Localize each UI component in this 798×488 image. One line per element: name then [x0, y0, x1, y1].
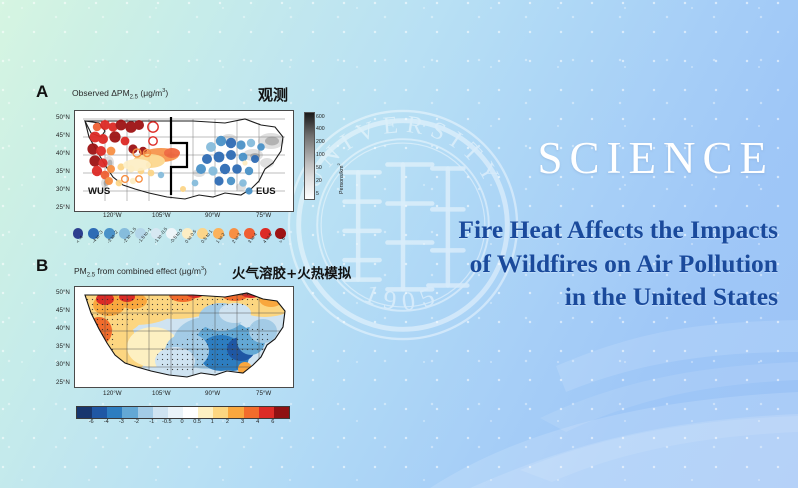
colorbar-b-segment-11 — [244, 407, 259, 418]
panel-a-title-delta: ΔPM — [111, 88, 129, 98]
pop-tick-400: 400 — [316, 126, 325, 132]
colorbar-b-segment-3 — [122, 407, 137, 418]
headline-line-1: Fire Heat Affects the Impacts — [358, 213, 778, 247]
panel-b-title-pm: PM — [74, 266, 87, 276]
panel-b-title-sub: 2.5 — [87, 273, 95, 279]
colorbar-b-segment-1 — [92, 407, 107, 418]
panel-b-ytick-2: 40°N — [56, 325, 70, 332]
panel-a-letter: A — [36, 82, 48, 102]
panel-b-xtick-0: 120°W — [103, 390, 122, 397]
population-axis-label-sup: 2 — [336, 163, 341, 165]
colorbar-b-segment-12 — [259, 407, 274, 418]
population-colorbar — [304, 112, 315, 200]
colorbar-b-segment-5 — [153, 407, 168, 418]
poster-headline: Fire Heat Affects the Impacts of Wildfir… — [358, 213, 778, 314]
colorbar-b-segment-4 — [138, 407, 153, 418]
panel-b-ytick-5: 25°N — [56, 379, 70, 386]
panel-a-ytick-2: 40°N — [56, 150, 70, 157]
colorbar-b-segment-13 — [274, 407, 289, 418]
pop-tick-100: 100 — [316, 152, 325, 158]
panel-a-title: Observed ΔPM2.5 (μg/m3) — [72, 88, 168, 101]
panel-b-title-rest: from combined effect (μg/m — [95, 266, 201, 276]
panel-a-cn-tag: 观测 — [258, 84, 288, 105]
seal-outer-text: UNIVERSITY — [298, 111, 508, 193]
panel-a-ytick-3: 35°N — [56, 168, 70, 175]
panel-a-region-wus: WUS — [88, 186, 110, 197]
panel-a-ytick-5: 25°N — [56, 204, 70, 211]
panel-a-ytick-1: 45°N — [56, 132, 70, 139]
panel-a-xtick-2: 90°W — [205, 212, 220, 219]
panel-a-region-eus: EUS — [256, 186, 276, 197]
panel-b-title: PM2.5 from combined effect (μg/m3) — [74, 266, 207, 279]
panel-a-xtick-0: 120°W — [103, 212, 122, 219]
colorbar-b-segment-2 — [107, 407, 122, 418]
panel-b-ytick-1: 45°N — [56, 307, 70, 314]
panel-b-map — [74, 286, 294, 388]
colorbar-b-segment-7 — [183, 407, 198, 418]
panel-a-xtick-1: 105°W — [152, 212, 171, 219]
colorbar-b-tick-12: 6 — [259, 419, 287, 425]
panel-a-title-units: (μg/m — [138, 88, 162, 98]
pop-tick-600: 600 — [316, 114, 325, 120]
panel-b-ytick-4: 30°N — [56, 361, 70, 368]
colorbar-b-segment-8 — [198, 407, 213, 418]
colorbar-b-segment-6 — [168, 407, 183, 418]
headline-line-3: in the United States — [358, 280, 778, 314]
population-axis-label-text: Persons/km — [339, 166, 345, 194]
panel-a-ytick-0: 50°N — [56, 114, 70, 121]
panel-b-colorbar — [76, 406, 290, 419]
panel-a-title-sub: 2.5 — [130, 95, 138, 101]
panel-b-ytick-3: 35°N — [56, 343, 70, 350]
panel-b-ytick-0: 50°N — [56, 289, 70, 296]
headline-line-2: of Wildfires on Air Pollution — [358, 247, 778, 281]
panel-a-title-close: ) — [165, 88, 168, 98]
population-axis-label: Persons/km2 — [336, 163, 345, 194]
panel-b-cn-tag: 火气溶胶+火热模拟 — [232, 262, 351, 282]
science-wordmark: SCIENCE — [537, 136, 774, 181]
panel-b-title-close: ) — [204, 266, 207, 276]
pop-tick-50: 50 — [316, 165, 322, 171]
panel-a-xtick-3: 75°W — [256, 212, 271, 219]
panel-b-xtick-1: 105°W — [152, 390, 171, 397]
panel-b-xtick-3: 75°W — [256, 390, 271, 397]
pop-tick-200: 200 — [316, 139, 325, 145]
colorbar-b-segment-9 — [213, 407, 228, 418]
panel-a-title-observed: Observed — [72, 88, 111, 98]
colorbar-b-segment-10 — [228, 407, 243, 418]
poster-canvas: UNIVERSITY 1905 SCIENCE Fire Hea — [0, 0, 798, 488]
pop-tick-20: 20 — [316, 178, 322, 184]
panel-b-xtick-2: 90°W — [205, 390, 220, 397]
pop-tick-5: 5 — [316, 191, 319, 197]
panel-a-ytick-4: 30°N — [56, 186, 70, 193]
colorbar-b-segment-0 — [77, 407, 92, 418]
panel-b-letter: B — [36, 256, 48, 276]
